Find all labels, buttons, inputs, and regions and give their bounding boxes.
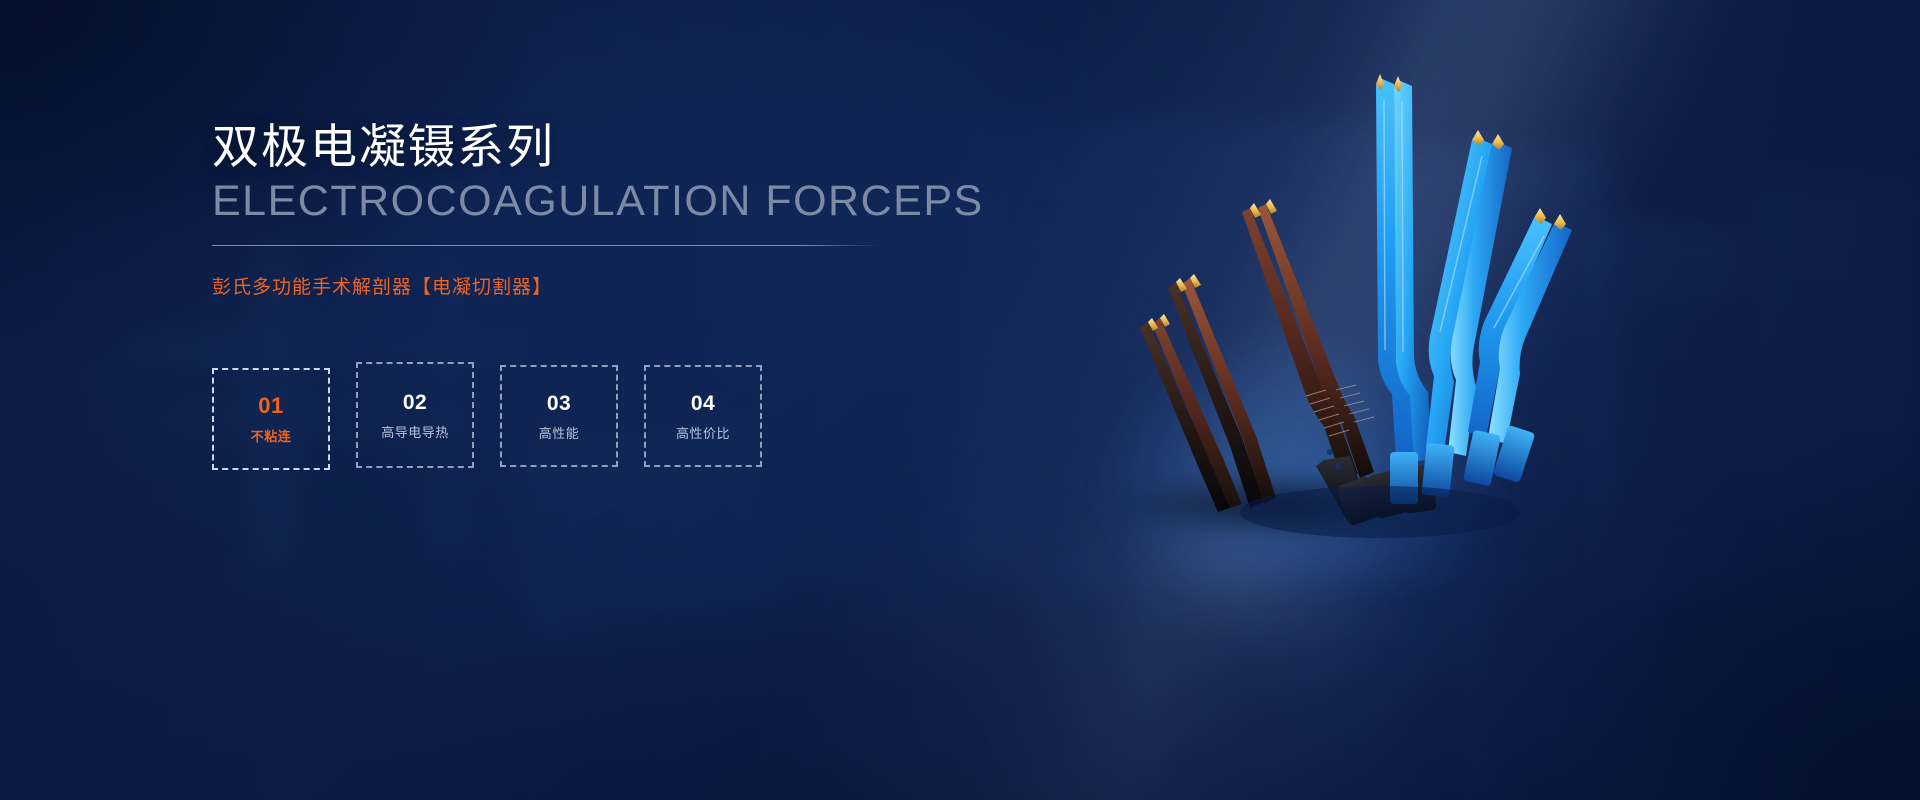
forceps-blue-group (1376, 74, 1572, 504)
feature-card-04[interactable]: 04 高性价比 (644, 365, 762, 467)
divider (212, 245, 880, 246)
page-title: 双极电凝镊系列 (212, 118, 555, 177)
feature-label: 不粘连 (251, 430, 292, 443)
feature-label: 高导电导热 (381, 426, 449, 439)
product-tagline: 彭氏多功能手术解剖器【电凝切割器】 (212, 272, 552, 299)
feature-number: 02 (403, 392, 427, 413)
feature-number: 04 (691, 393, 715, 414)
feature-number: 01 (258, 395, 283, 417)
banner-content: 双极电凝镊系列 ELECTROCOAGULATION FORCEPS 彭氏多功能… (212, 0, 1012, 800)
feature-card-01[interactable]: 01 不粘连 (212, 368, 330, 470)
product-image (1080, 60, 1600, 530)
feature-label: 高性价比 (676, 427, 730, 440)
page-subtitle-english: ELECTROCOAGULATION FORCEPS (212, 176, 984, 228)
feature-list: 01 不粘连 02 高导电导热 03 高性能 04 高性价比 (212, 362, 788, 470)
feature-card-02[interactable]: 02 高导电导热 (356, 362, 474, 468)
feature-number: 03 (547, 393, 571, 414)
feature-card-03[interactable]: 03 高性能 (500, 365, 618, 467)
product-banner: 双极电凝镊系列 ELECTROCOAGULATION FORCEPS 彭氏多功能… (0, 0, 1920, 800)
feature-label: 高性能 (539, 427, 580, 440)
